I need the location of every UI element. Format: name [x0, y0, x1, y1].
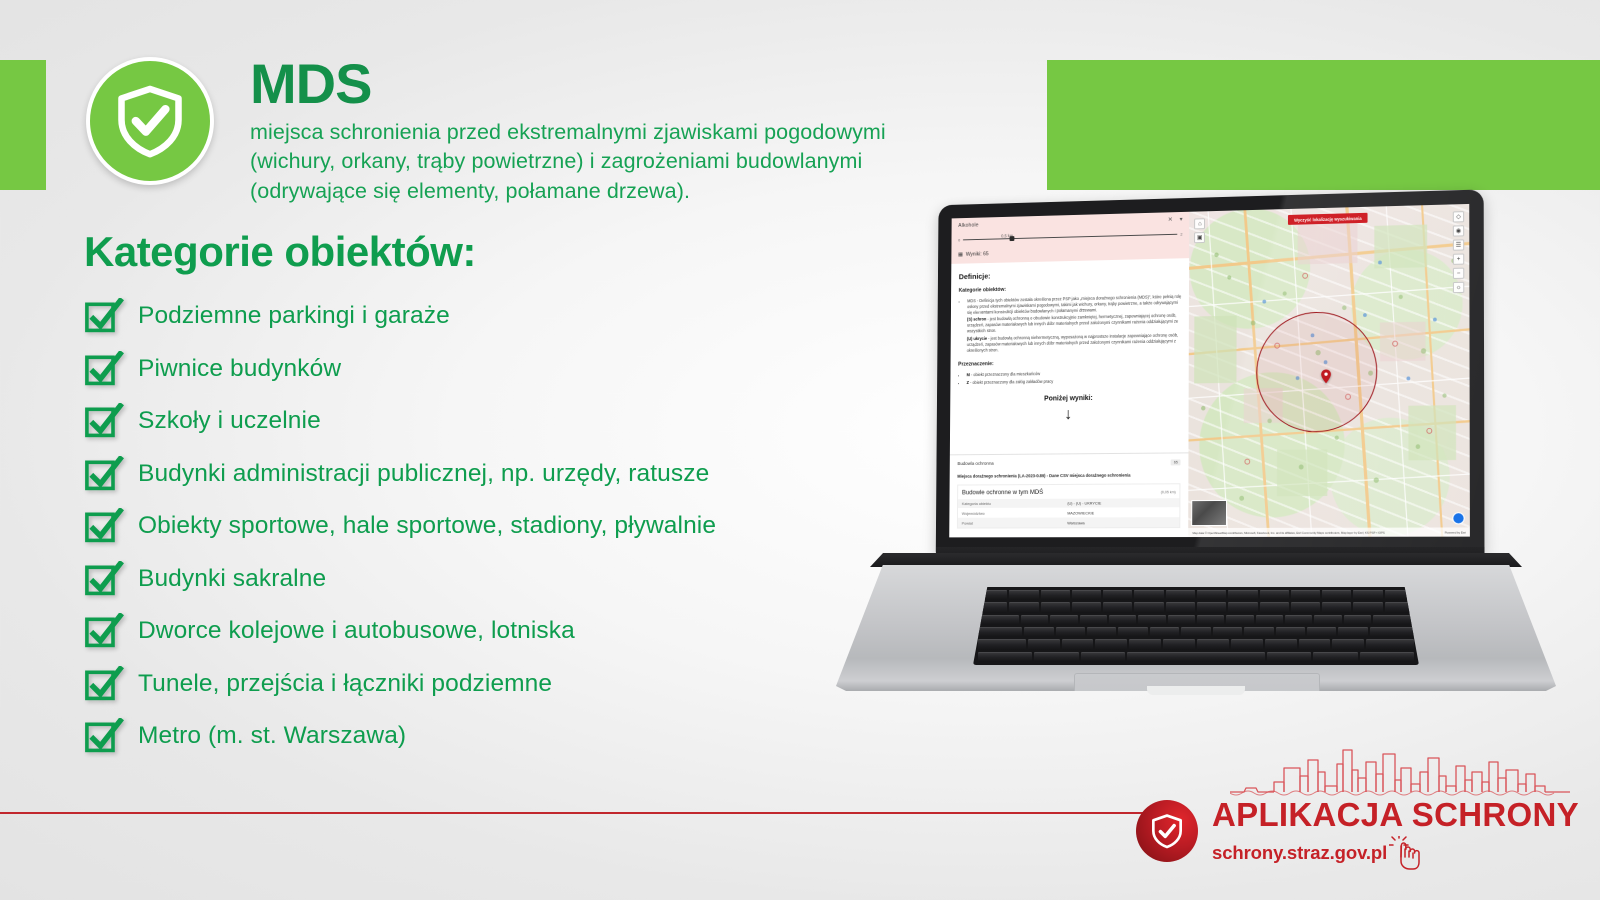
- footer-app-name: APLIKACJA SCHRONY: [1212, 798, 1579, 831]
- result-card[interactable]: Budowle ochronne w tym MDŚ (0,05 km) Kat…: [957, 483, 1181, 529]
- decor-bar-left: [0, 60, 46, 190]
- slider-max-label: 2: [1180, 232, 1182, 237]
- footer-divider: [0, 812, 1146, 814]
- purpose-m-text: - obiekt przeznaczony dla mieszkańców: [970, 372, 1040, 378]
- result-card-distance: (0,05 km): [1161, 490, 1176, 494]
- panel-footer: Budowla ochronna 65 Miejsca doraźnego sc…: [949, 452, 1189, 537]
- accordion-label: Budowla ochronna: [957, 461, 993, 466]
- laptop-base: [836, 553, 1556, 703]
- map-controls-right: ◇ ◉ ☰ + − ☼: [1453, 211, 1464, 293]
- keyboard-key[interactable]: [1009, 590, 1038, 600]
- keyboard-key[interactable]: [1080, 615, 1107, 625]
- keyboard-key[interactable]: [1370, 627, 1414, 637]
- purpose-list: M - obiekt przeznaczony dla mieszkańców …: [967, 369, 1182, 386]
- slider-min-label: 0: [958, 238, 960, 243]
- keyboard-row: [978, 652, 1414, 662]
- keyboard-key[interactable]: [1197, 590, 1226, 600]
- results-row: ▦ Wyniki: 65: [958, 246, 1182, 257]
- keyboard-key[interactable]: [1265, 639, 1297, 649]
- laptop-lid: Alkohole ✕ ▾ 0 0,5 km 2: [936, 189, 1485, 555]
- laptop-lid-notch: [1147, 686, 1245, 695]
- definition-ukrycie: (U) ukrycie - jest budowlą ochronną nieh…: [967, 332, 1181, 353]
- zoom-out-icon[interactable]: −: [1453, 268, 1464, 279]
- keyboard-key[interactable]: [1360, 652, 1414, 662]
- category-item: Dworce kolejowe i autobusowe, lotniska: [84, 605, 904, 658]
- checkbox-checked-icon: [84, 508, 138, 544]
- categories-section: Kategorie obiektów: Podziemne parkingi i…: [84, 228, 904, 763]
- close-icon[interactable]: ✕: [1168, 217, 1173, 223]
- keyboard-key[interactable]: [1228, 602, 1257, 612]
- keyboard-key[interactable]: [1313, 652, 1358, 662]
- keyboard-key[interactable]: [1034, 652, 1079, 662]
- app-panel: Alkohole ✕ ▾ 0 0,5 km 2: [949, 212, 1189, 538]
- keyboard-key[interactable]: [1197, 639, 1229, 649]
- page-title: MDS: [250, 55, 1050, 114]
- definition-schron-term: (S) schron: [967, 317, 986, 322]
- keyboard-key[interactable]: [1291, 590, 1320, 600]
- radius-slider[interactable]: 0 0,5 km 2: [958, 229, 1182, 246]
- laptop-mockup: Alkohole ✕ ▾ 0 0,5 km 2: [836, 195, 1556, 760]
- keyboard-key[interactable]: [1127, 652, 1264, 662]
- checkbox-checked-icon: [84, 351, 138, 387]
- decor-bar-right: [1047, 60, 1600, 190]
- footer-url-row[interactable]: schrony.straz.gov.pl: [1212, 836, 1579, 864]
- locate-me-icon[interactable]: [1452, 512, 1464, 524]
- keyboard-key[interactable]: [1256, 615, 1283, 625]
- zoom-in-icon[interactable]: +: [1453, 253, 1464, 264]
- result-attribute-key: Województwo: [958, 508, 1063, 518]
- keyboard-key[interactable]: [1299, 639, 1331, 649]
- result-attribute-key: Kategoria obiektu: [958, 498, 1063, 508]
- keyboard-key[interactable]: [1226, 615, 1253, 625]
- keyboard-row: [978, 627, 1414, 637]
- result-attribute-table: Kategoria obiektu(U) - (U) - UKRYCIEWoje…: [958, 498, 1180, 528]
- keyboard-key[interactable]: [1197, 602, 1226, 612]
- keyboard-key[interactable]: [1353, 590, 1382, 600]
- map-controls-left: ⌂ ▣: [1194, 218, 1205, 243]
- keyboard-key[interactable]: [978, 639, 1026, 649]
- footer-brand: APLIKACJA SCHRONY schrony.straz.gov.pl: [1212, 798, 1579, 864]
- keyboard-key[interactable]: [1103, 590, 1132, 600]
- result-card-header: Budowle ochronne w tym MDŚ (0,05 km): [958, 484, 1180, 499]
- keyboard-key[interactable]: [1385, 590, 1414, 600]
- category-label: Obiekty sportowe, hale sportowe, stadion…: [138, 512, 716, 540]
- keyboard-key[interactable]: [1344, 615, 1371, 625]
- keyboard-key[interactable]: [1260, 602, 1289, 612]
- home-icon[interactable]: ⌂: [1194, 218, 1205, 229]
- object-categories-heading: Kategorie obiektów:: [959, 283, 1182, 294]
- categories-heading: Kategorie obiektów:: [84, 228, 904, 276]
- result-attribute-value: MAZOWIECKIE: [1063, 508, 1179, 518]
- checkbox-checked-icon: [84, 403, 138, 439]
- laptop-deck: [836, 565, 1556, 691]
- filter-icon[interactable]: ▾: [1180, 217, 1183, 223]
- keyboard-key[interactable]: [1028, 639, 1060, 649]
- panel-header: Alkohole ✕ ▾ 0 0,5 km 2: [951, 212, 1189, 264]
- keyboard-key[interactable]: [1166, 602, 1195, 612]
- category-item: Budynki administracji publicznej, np. ur…: [84, 448, 904, 501]
- footer-url-text: schrony.straz.gov.pl: [1212, 842, 1387, 864]
- keyboard-key[interactable]: [1228, 590, 1257, 600]
- keyboard-key[interactable]: [1197, 615, 1224, 625]
- checkbox-checked-icon: [84, 613, 138, 649]
- map-attribution-right: Powered by Esri: [1445, 530, 1466, 534]
- definition-schron: (S) schron - jest budowlą ochronną o obu…: [967, 313, 1181, 334]
- keyboard-key[interactable]: [978, 627, 1022, 637]
- keyboard-key[interactable]: [1134, 590, 1163, 600]
- keyboard-key[interactable]: [1095, 639, 1127, 649]
- map-attribution-left: Map data © OpenStreetMap contributors, M…: [1192, 530, 1384, 534]
- category-item: Podziemne parkingi i garaże: [84, 290, 904, 343]
- page-subtitle: miejsca schronienia przed ekstremalnymi …: [250, 118, 1050, 206]
- footer-logo[interactable]: APLIKACJA SCHRONY schrony.straz.gov.pl: [1128, 742, 1588, 882]
- layers-icon[interactable]: ◇: [1453, 211, 1464, 222]
- category-item: Metro (m. st. Warszawa): [84, 710, 904, 763]
- category-label: Budynki administracji publicznej, np. ur…: [138, 460, 709, 488]
- keyboard-key[interactable]: [1231, 639, 1263, 649]
- categories-list: Podziemne parkingi i garażePiwnice budyn…: [84, 290, 904, 763]
- laptop-hinge: [870, 553, 1522, 567]
- category-item: Budynki sakralne: [84, 553, 904, 606]
- keyboard-key[interactable]: [1072, 602, 1101, 612]
- header: MDS miejsca schronienia przed ekstremaln…: [86, 55, 1046, 205]
- keyboard-key[interactable]: [1062, 639, 1094, 649]
- keyboard-key[interactable]: [1118, 627, 1147, 637]
- result-attribute-row: PowiatWarszawa: [958, 517, 1180, 527]
- checkbox-checked-icon: [84, 666, 138, 702]
- keyboard-key[interactable]: [1041, 602, 1070, 612]
- keyboard-key[interactable]: [1168, 615, 1195, 625]
- category-item: Tunele, przejścia i łączniki podziemne: [84, 658, 904, 711]
- panel-body: Definicje: Kategorie obiektów: MDS - Def…: [950, 258, 1189, 454]
- keyboard-key[interactable]: [1138, 615, 1165, 625]
- definition-ukrycie-text: - jest budowlą ochronną niehermetyczną, …: [967, 332, 1178, 352]
- definition-schron-text: - jest budowlą ochronną o obudowie konst…: [967, 313, 1178, 333]
- definition-list: MDS - Definicja tych obiektów została ok…: [967, 294, 1182, 353]
- keyboard-row: [978, 639, 1414, 649]
- footer-shield-icon: [1136, 800, 1198, 862]
- shield-check-icon: [86, 57, 214, 185]
- clear-search-location-banner[interactable]: Wyczyść lokalizację wyszukiwania: [1288, 213, 1368, 225]
- keyboard-key[interactable]: [1353, 602, 1382, 612]
- result-attribute-value: (U) - (U) - UKRYCIE: [1063, 498, 1179, 508]
- subtitle-line-1: miejsca schronienia przed ekstremalnymi …: [250, 118, 1050, 147]
- category-label: Metro (m. st. Warszawa): [138, 722, 406, 750]
- keyboard-key[interactable]: [1166, 590, 1195, 600]
- keyboard-key[interactable]: [1285, 615, 1312, 625]
- category-label: Szkoły i uczelnie: [138, 407, 321, 435]
- results-count-label: Wyniki: 65: [966, 251, 989, 257]
- map-attribution: Map data © OpenStreetMap contributors, M…: [1188, 527, 1469, 537]
- panel-title: Alkohole: [958, 223, 978, 229]
- definition-mds-text: MDS - Definicja tych obiektów została ok…: [967, 294, 1181, 315]
- keyboard-key[interactable]: [1338, 627, 1367, 637]
- keyboard-key[interactable]: [1291, 602, 1320, 612]
- keyboard-key[interactable]: [1109, 615, 1136, 625]
- keyboard-key[interactable]: [1024, 627, 1053, 637]
- panel-titlebar: Alkohole ✕ ▾: [958, 217, 1182, 229]
- category-label: Budynki sakralne: [138, 565, 326, 593]
- keyboard-key[interactable]: [978, 652, 1032, 662]
- keyboard-key[interactable]: [1244, 627, 1273, 637]
- slider-thumb[interactable]: [1010, 236, 1015, 241]
- list-icon[interactable]: ☰: [1453, 239, 1464, 250]
- category-item: Obiekty sportowe, hale sportowe, stadion…: [84, 500, 904, 553]
- keyboard-key[interactable]: [1009, 602, 1038, 612]
- keyboard-key[interactable]: [1366, 639, 1414, 649]
- keyboard-row: [978, 590, 1414, 600]
- keyboard-key[interactable]: [1322, 590, 1351, 600]
- below-results-heading: Poniżej wyniki:: [958, 394, 1181, 404]
- keyboard-key[interactable]: [1134, 602, 1163, 612]
- keyboard-key[interactable]: [978, 590, 1007, 600]
- keyboard-key[interactable]: [1103, 602, 1132, 612]
- header-text-block: MDS miejsca schronienia przed ekstremaln…: [250, 55, 1050, 206]
- purpose-item-z: Z - obiekt przeznaczony dla załóg zakład…: [967, 377, 1182, 386]
- definition-ukrycie-term: (U) ukrycie: [967, 336, 987, 341]
- checkbox-checked-icon: [84, 456, 138, 492]
- slider-track[interactable]: 0,5 km: [963, 234, 1177, 241]
- result-attribute-key: Powiat: [958, 518, 1063, 528]
- keyboard-row: [978, 615, 1414, 625]
- keyboard-key[interactable]: [1314, 615, 1341, 625]
- laptop-trackpad[interactable]: [1074, 673, 1320, 731]
- keyboard-key[interactable]: [1081, 652, 1126, 662]
- keyboard-key[interactable]: [1267, 652, 1312, 662]
- keyboard-key[interactable]: [1087, 627, 1116, 637]
- category-label: Podziemne parkingi i garaże: [138, 302, 450, 330]
- keyboard-key[interactable]: [1322, 602, 1351, 612]
- category-label: Tunele, przejścia i łączniki podziemne: [138, 670, 552, 698]
- compass-icon[interactable]: ◉: [1453, 225, 1464, 236]
- keyboard-key[interactable]: [978, 602, 1007, 612]
- purpose-z-text: - obiekt przeznaczony dla załóg zakładów…: [969, 379, 1053, 385]
- map-inset-thumbnail[interactable]: [1191, 500, 1227, 526]
- laptop-keyboard[interactable]: [973, 587, 1419, 665]
- keyboard-key[interactable]: [1056, 627, 1085, 637]
- subtitle-line-2: (wichury, orkany, trąby powietrzne) i za…: [250, 147, 1050, 176]
- click-hand-icon: [1389, 836, 1427, 864]
- keyboard-key[interactable]: [1213, 627, 1242, 637]
- accordion-row[interactable]: Budowla ochronna 65: [957, 459, 1180, 467]
- keyboard-key[interactable]: [1332, 639, 1364, 649]
- arrow-down-icon: ↓: [958, 406, 1181, 424]
- result-card-title: Budowle ochronne w tym MDŚ: [962, 489, 1043, 496]
- keyboard-key[interactable]: [1050, 615, 1077, 625]
- keyboard-key[interactable]: [1181, 627, 1210, 637]
- bookmark-icon[interactable]: ▣: [1194, 232, 1205, 243]
- definitions-heading: Definicje:: [959, 267, 1182, 281]
- keyboard-key[interactable]: [1260, 590, 1289, 600]
- camera-icon[interactable]: ☼: [1453, 282, 1464, 293]
- keyboard-key[interactable]: [1373, 615, 1414, 625]
- laptop-screen: Alkohole ✕ ▾ 0 0,5 km 2: [949, 204, 1470, 537]
- keyboard-key[interactable]: [1385, 602, 1414, 612]
- keyboard-row: [978, 602, 1414, 612]
- purpose-heading: Przeznaczenie:: [958, 358, 1181, 367]
- keyboard-key[interactable]: [1072, 590, 1101, 600]
- keyboard-key[interactable]: [978, 615, 1019, 625]
- checkbox-checked-icon: [84, 718, 138, 754]
- keyboard-key[interactable]: [1041, 590, 1070, 600]
- category-label: Dworce kolejowe i autobusowe, lotniska: [138, 617, 575, 645]
- definition-item: MDS - Definicja tych obiektów została ok…: [967, 294, 1182, 353]
- keyboard-key[interactable]: [1129, 639, 1161, 649]
- map-view[interactable]: Wyczyść lokalizację wyszukiwania ⌂ ▣ ◇ ◉…: [1188, 204, 1469, 537]
- accordion-count-chip: 65: [1171, 459, 1181, 465]
- keyboard-key[interactable]: [1021, 615, 1048, 625]
- keyboard-key[interactable]: [1163, 639, 1195, 649]
- checkbox-checked-icon: [84, 561, 138, 597]
- keyboard-key[interactable]: [1150, 627, 1179, 637]
- category-label: Piwnice budynków: [138, 355, 341, 383]
- keyboard-key[interactable]: [1276, 627, 1305, 637]
- keyboard-key[interactable]: [1307, 627, 1336, 637]
- grid-icon: ▦: [958, 252, 963, 258]
- category-item: Piwnice budynków: [84, 343, 904, 396]
- dataset-label: Miejsca doraźnego schronienia (LA-2023-0…: [957, 472, 1180, 478]
- category-item: Szkoły i uczelnie: [84, 395, 904, 448]
- checkbox-checked-icon: [84, 298, 138, 334]
- result-attribute-value: Warszawa: [1063, 517, 1179, 527]
